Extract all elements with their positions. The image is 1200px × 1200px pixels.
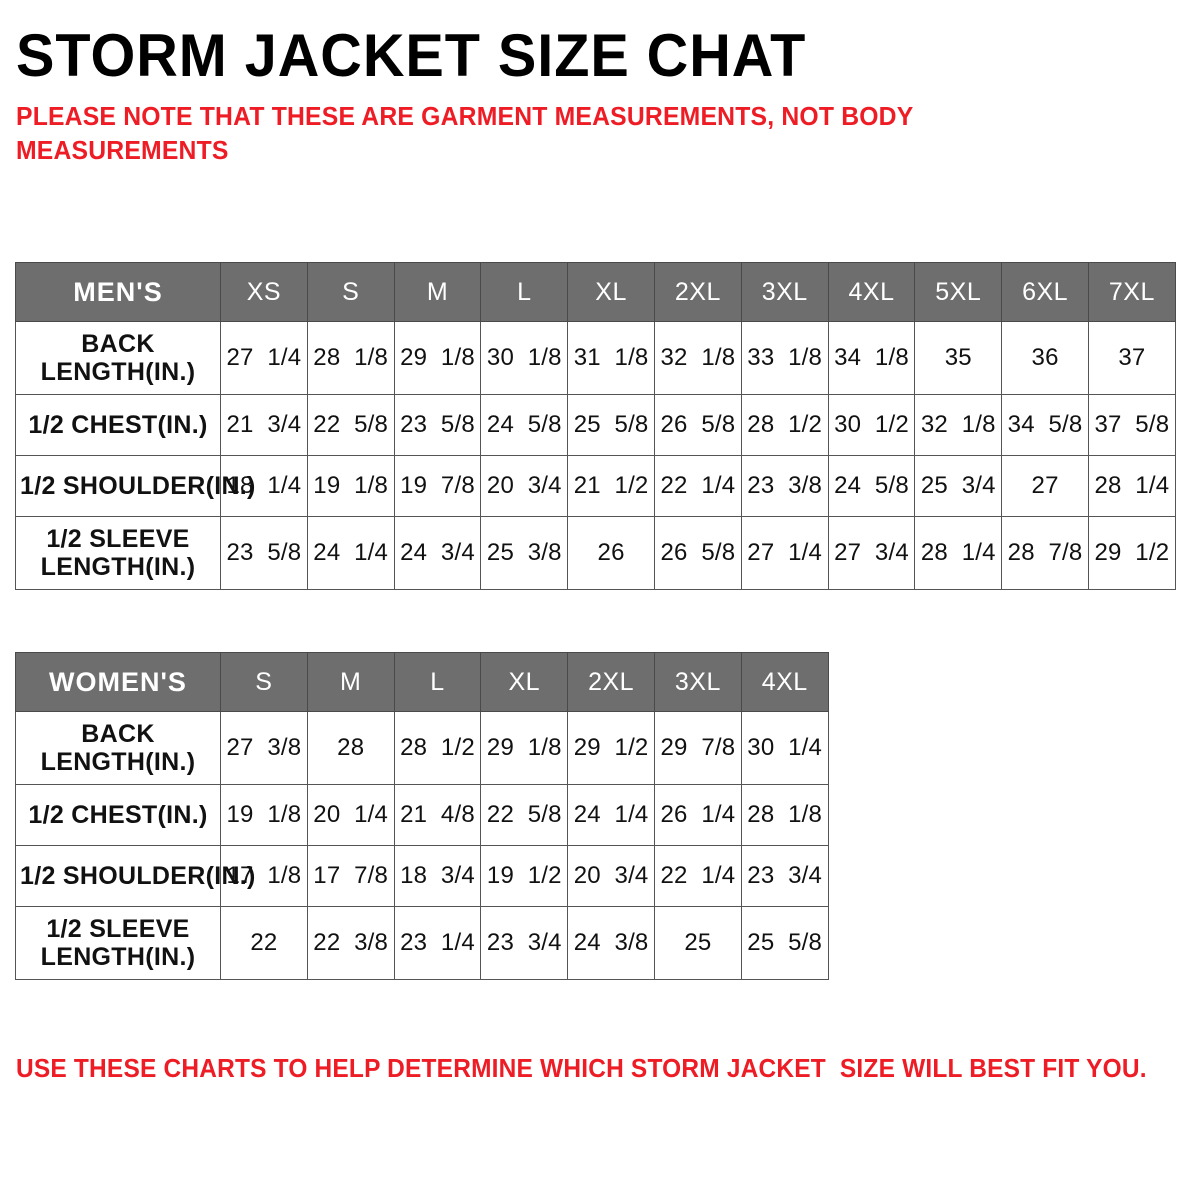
- measurement-value: 35: [945, 344, 972, 371]
- measurement-value: 21 3/4: [227, 411, 302, 438]
- measurement-label: 1/2 CHEST(IN.): [16, 395, 221, 456]
- measurement-value: 36: [1032, 344, 1059, 371]
- measurement-label-line1: 1/2 CHEST(IN.): [20, 411, 216, 439]
- measurement-cell: 30 1/2: [828, 395, 915, 456]
- table-row: 1/2 SLEEVELENGTH(IN.)23 5/824 1/424 3/42…: [16, 517, 1176, 590]
- size-header-2xl: 2XL: [568, 653, 655, 712]
- measurement-value: 30 1/2: [834, 411, 909, 438]
- measurement-value: 24 1/4: [313, 539, 388, 566]
- womens-table-header: WOMEN'SSMLXL2XL3XL4XL: [16, 653, 829, 712]
- measurement-cell: 27 1/4: [741, 517, 828, 590]
- measurement-cell: 22: [221, 907, 308, 980]
- measurement-value: 25 3/4: [921, 472, 996, 499]
- table-row: 1/2 CHEST(IN.)21 3/422 5/823 5/824 5/825…: [16, 395, 1176, 456]
- measurement-cell: 17 7/8: [307, 846, 394, 907]
- measurement-value: 29 1/8: [400, 344, 475, 371]
- measurement-value: 25 5/8: [574, 411, 649, 438]
- measurement-value: 25 5/8: [747, 929, 822, 956]
- measurement-cell: 23 3/8: [741, 456, 828, 517]
- measurement-cell: 28 1/8: [741, 785, 828, 846]
- measurement-cell: 20 3/4: [568, 846, 655, 907]
- measurement-value: 23 3/4: [487, 929, 562, 956]
- measurement-cell: 27 3/4: [828, 517, 915, 590]
- measurement-value: 18 1/4: [227, 472, 302, 499]
- measurement-cell: 23 5/8: [221, 517, 308, 590]
- measurement-cell: 22 5/8: [307, 395, 394, 456]
- measurement-cell: 24 1/4: [307, 517, 394, 590]
- measurement-cell: 18 1/4: [221, 456, 308, 517]
- table-row: 1/2 SHOULDER(IN.)17 1/817 7/818 3/419 1/…: [16, 846, 829, 907]
- table-row: BACKLENGTH(IN.)27 1/428 1/829 1/830 1/83…: [16, 322, 1176, 395]
- measurement-value: 26 1/4: [660, 801, 735, 828]
- measurement-label: 1/2 SHOULDER(IN.): [16, 846, 221, 907]
- measurement-value: 27 1/4: [747, 539, 822, 566]
- measurement-value: 29 1/2: [574, 734, 649, 761]
- measurement-value: 23 3/4: [747, 862, 822, 889]
- measurement-cell: 20 3/4: [481, 456, 568, 517]
- womens-corner-label: WOMEN'S: [16, 653, 221, 712]
- measurement-value: 34 5/8: [1008, 411, 1083, 438]
- measurement-value: 27 3/8: [227, 734, 302, 761]
- measurement-cell: 28: [307, 712, 394, 785]
- size-header-6xl: 6XL: [1002, 263, 1089, 322]
- measurement-value: 24 5/8: [487, 411, 562, 438]
- measurement-cell: 22 3/8: [307, 907, 394, 980]
- measurement-cell: 36: [1002, 322, 1089, 395]
- measurement-cell: 19 7/8: [394, 456, 481, 517]
- measurement-cell: 33 1/8: [741, 322, 828, 395]
- measurement-value: 21 1/2: [574, 472, 649, 499]
- measurement-value: 23 1/4: [400, 929, 475, 956]
- measurement-cell: 31 1/8: [568, 322, 655, 395]
- measurement-value: 34 1/8: [834, 344, 909, 371]
- measurement-label: BACKLENGTH(IN.): [16, 712, 221, 785]
- measurement-cell: 26: [568, 517, 655, 590]
- measurement-cell: 29 1/8: [481, 712, 568, 785]
- measurement-cell: 22 5/8: [481, 785, 568, 846]
- measurement-label-line2: LENGTH(IN.): [20, 358, 216, 386]
- page-title: STORM JACKET SIZE CHAT: [16, 0, 1137, 86]
- measurement-label-line1: 1/2 CHEST(IN.): [20, 801, 216, 829]
- size-header-xs: XS: [221, 263, 308, 322]
- womens-table-body: BACKLENGTH(IN.)27 3/82828 1/229 1/829 1/…: [16, 712, 829, 980]
- measurement-cell: 26 5/8: [654, 517, 741, 590]
- measurement-label: 1/2 SLEEVELENGTH(IN.): [16, 907, 221, 980]
- measurement-cell: 21 1/2: [568, 456, 655, 517]
- measurement-cell: 24 1/4: [568, 785, 655, 846]
- measurement-cell: 24 5/8: [481, 395, 568, 456]
- measurement-cell: 30 1/8: [481, 322, 568, 395]
- measurement-label-line1: 1/2 SLEEVE: [20, 525, 216, 553]
- mens-table-body: BACKLENGTH(IN.)27 1/428 1/829 1/830 1/83…: [16, 322, 1176, 590]
- measurement-value: 23 3/8: [747, 472, 822, 499]
- measurement-value: 27 3/4: [834, 539, 909, 566]
- measurement-value: 30 1/8: [487, 344, 562, 371]
- size-header-m: M: [307, 653, 394, 712]
- measurement-value: 28 1/2: [747, 411, 822, 438]
- measurement-value: 24 3/8: [574, 929, 649, 956]
- measurement-cell: 32 1/8: [915, 395, 1002, 456]
- measurement-cell: 19 1/2: [481, 846, 568, 907]
- table-header-row: MEN'SXSSMLXL2XL3XL4XL5XL6XL7XL: [16, 263, 1176, 322]
- measurement-value: 37: [1118, 344, 1145, 371]
- measurement-value: 27: [1032, 472, 1059, 499]
- measurement-cell: 26 1/4: [654, 785, 741, 846]
- measurement-cell: 29 1/8: [394, 322, 481, 395]
- measurement-value: 22 5/8: [487, 801, 562, 828]
- measurement-label-line2: LENGTH(IN.): [20, 943, 216, 971]
- measurement-value: 17 7/8: [313, 862, 388, 889]
- size-header-l: L: [481, 263, 568, 322]
- measurement-value: 26 5/8: [660, 539, 735, 566]
- measurement-cell: 27: [1002, 456, 1089, 517]
- measurement-value: 28 1/4: [921, 539, 996, 566]
- measurement-value: 32 1/8: [921, 411, 996, 438]
- size-header-l: L: [394, 653, 481, 712]
- size-chart-page: STORM JACKET SIZE CHAT PLEASE NOTE THAT …: [0, 0, 1200, 1200]
- measurement-cell: 23 3/4: [481, 907, 568, 980]
- measurement-cell: 25 5/8: [741, 907, 828, 980]
- measurement-cell: 21 4/8: [394, 785, 481, 846]
- measurement-value: 28 1/8: [313, 344, 388, 371]
- measurement-value: 22 3/8: [313, 929, 388, 956]
- size-header-2xl: 2XL: [654, 263, 741, 322]
- mens-table-header: MEN'SXSSMLXL2XL3XL4XL5XL6XL7XL: [16, 263, 1176, 322]
- measurement-cell: 20 1/4: [307, 785, 394, 846]
- measurement-cell: 25 5/8: [568, 395, 655, 456]
- measurement-value: 26 5/8: [660, 411, 735, 438]
- measurement-cell: 37 5/8: [1088, 395, 1175, 456]
- measurement-value: 24 3/4: [400, 539, 475, 566]
- measurement-value: 23 5/8: [227, 539, 302, 566]
- measurement-cell: 17 1/8: [221, 846, 308, 907]
- usage-note: USE THESE CHARTS TO HELP DETERMINE WHICH…: [16, 1053, 1147, 1086]
- size-header-3xl: 3XL: [654, 653, 741, 712]
- measurement-value: 22 1/4: [660, 862, 735, 889]
- measurement-cell: 28 1/8: [307, 322, 394, 395]
- mens-corner-label: MEN'S: [16, 263, 221, 322]
- measurement-value: 20 1/4: [313, 801, 388, 828]
- measurement-cell: 23 5/8: [394, 395, 481, 456]
- measurement-value: 28 7/8: [1008, 539, 1083, 566]
- measurement-cell: 24 3/4: [394, 517, 481, 590]
- measurement-value: 30 1/4: [747, 734, 822, 761]
- measurement-cell: 24 3/8: [568, 907, 655, 980]
- size-header-s: S: [221, 653, 308, 712]
- measurement-cell: 29 7/8: [654, 712, 741, 785]
- measurement-value: 29 1/8: [487, 734, 562, 761]
- measurement-cell: 29 1/2: [1088, 517, 1175, 590]
- measurement-cell: 25 3/8: [481, 517, 568, 590]
- size-header-4xl: 4XL: [741, 653, 828, 712]
- measurement-value: 32 1/8: [660, 344, 735, 371]
- measurement-value: 26: [598, 539, 625, 566]
- measurement-value: 17 1/8: [227, 862, 302, 889]
- size-header-5xl: 5XL: [915, 263, 1002, 322]
- measurement-label-line2: LENGTH(IN.): [20, 553, 216, 581]
- measurement-value: 33 1/8: [747, 344, 822, 371]
- size-header-m: M: [394, 263, 481, 322]
- measurement-value: 28: [337, 734, 364, 761]
- measurement-cell: 19 1/8: [307, 456, 394, 517]
- measurement-cell: 28 1/4: [915, 517, 1002, 590]
- measurement-value: 27 1/4: [227, 344, 302, 371]
- measurement-cell: 28 7/8: [1002, 517, 1089, 590]
- measurement-cell: 25: [654, 907, 741, 980]
- measurement-cell: 22 1/4: [654, 846, 741, 907]
- measurement-value: 23 5/8: [400, 411, 475, 438]
- size-header-xl: XL: [568, 263, 655, 322]
- measurement-value: 29 1/2: [1094, 539, 1169, 566]
- garment-measurement-note: PLEASE NOTE THAT THESE ARE GARMENT MEASU…: [16, 100, 947, 169]
- table-row: 1/2 CHEST(IN.)19 1/820 1/421 4/822 5/824…: [16, 785, 829, 846]
- measurement-cell: 27 1/4: [221, 322, 308, 395]
- measurement-value: 24 1/4: [574, 801, 649, 828]
- measurement-value: 37 5/8: [1094, 411, 1169, 438]
- measurement-cell: 27 3/8: [221, 712, 308, 785]
- measurement-value: 20 3/4: [487, 472, 562, 499]
- measurement-label: 1/2 CHEST(IN.): [16, 785, 221, 846]
- measurement-label: BACKLENGTH(IN.): [16, 322, 221, 395]
- measurement-value: 19 1/8: [313, 472, 388, 499]
- measurement-value: 31 1/8: [574, 344, 649, 371]
- measurement-label-line1: 1/2 SLEEVE: [20, 915, 216, 943]
- measurement-cell: 23 3/4: [741, 846, 828, 907]
- measurement-cell: 19 1/8: [221, 785, 308, 846]
- measurement-cell: 29 1/2: [568, 712, 655, 785]
- size-header-7xl: 7XL: [1088, 263, 1175, 322]
- measurement-cell: 34 1/8: [828, 322, 915, 395]
- measurement-value: 24 5/8: [834, 472, 909, 499]
- measurement-cell: 37: [1088, 322, 1175, 395]
- size-header-s: S: [307, 263, 394, 322]
- measurement-cell: 26 5/8: [654, 395, 741, 456]
- measurement-value: 18 3/4: [400, 862, 475, 889]
- measurement-value: 19 7/8: [400, 472, 475, 499]
- measurement-value: 22 5/8: [313, 411, 388, 438]
- measurement-cell: 21 3/4: [221, 395, 308, 456]
- table-row: 1/2 SHOULDER(IN.)18 1/419 1/819 7/820 3/…: [16, 456, 1176, 517]
- measurement-value: 28 1/4: [1094, 472, 1169, 499]
- measurement-cell: 25 3/4: [915, 456, 1002, 517]
- measurement-value: 19 1/2: [487, 862, 562, 889]
- measurement-cell: 32 1/8: [654, 322, 741, 395]
- measurement-label: 1/2 SHOULDER(IN.): [16, 456, 221, 517]
- measurement-value: 22: [250, 929, 277, 956]
- measurement-cell: 23 1/4: [394, 907, 481, 980]
- measurement-cell: 28 1/2: [394, 712, 481, 785]
- measurement-cell: 22 1/4: [654, 456, 741, 517]
- size-header-4xl: 4XL: [828, 263, 915, 322]
- measurement-label-line1: 1/2 SHOULDER(IN.): [20, 472, 216, 500]
- measurement-value: 20 3/4: [574, 862, 649, 889]
- measurement-label-line1: 1/2 SHOULDER(IN.): [20, 862, 216, 890]
- measurement-cell: 28 1/2: [741, 395, 828, 456]
- table-header-row: WOMEN'SSMLXL2XL3XL4XL: [16, 653, 829, 712]
- measurement-value: 25: [684, 929, 711, 956]
- measurement-cell: 30 1/4: [741, 712, 828, 785]
- measurement-label-line1: BACK: [20, 330, 216, 358]
- measurement-cell: 24 5/8: [828, 456, 915, 517]
- size-header-xl: XL: [481, 653, 568, 712]
- measurement-value: 28 1/2: [400, 734, 475, 761]
- mens-size-table: MEN'SXSSMLXL2XL3XL4XL5XL6XL7XL BACKLENGT…: [15, 262, 1176, 590]
- measurement-value: 21 4/8: [400, 801, 475, 828]
- table-row: 1/2 SLEEVELENGTH(IN.)2222 3/823 1/423 3/…: [16, 907, 829, 980]
- measurement-value: 28 1/8: [747, 801, 822, 828]
- measurement-label: 1/2 SLEEVELENGTH(IN.): [16, 517, 221, 590]
- table-row: BACKLENGTH(IN.)27 3/82828 1/229 1/829 1/…: [16, 712, 829, 785]
- measurement-cell: 34 5/8: [1002, 395, 1089, 456]
- measurement-cell: 28 1/4: [1088, 456, 1175, 517]
- womens-size-table: WOMEN'SSMLXL2XL3XL4XL BACKLENGTH(IN.)27 …: [15, 652, 829, 980]
- measurement-cell: 35: [915, 322, 1002, 395]
- measurement-value: 29 7/8: [660, 734, 735, 761]
- measurement-value: 25 3/8: [487, 539, 562, 566]
- measurement-label-line2: LENGTH(IN.): [20, 748, 216, 776]
- measurement-label-line1: BACK: [20, 720, 216, 748]
- measurement-value: 19 1/8: [227, 801, 302, 828]
- measurement-value: 22 1/4: [660, 472, 735, 499]
- size-header-3xl: 3XL: [741, 263, 828, 322]
- measurement-cell: 18 3/4: [394, 846, 481, 907]
